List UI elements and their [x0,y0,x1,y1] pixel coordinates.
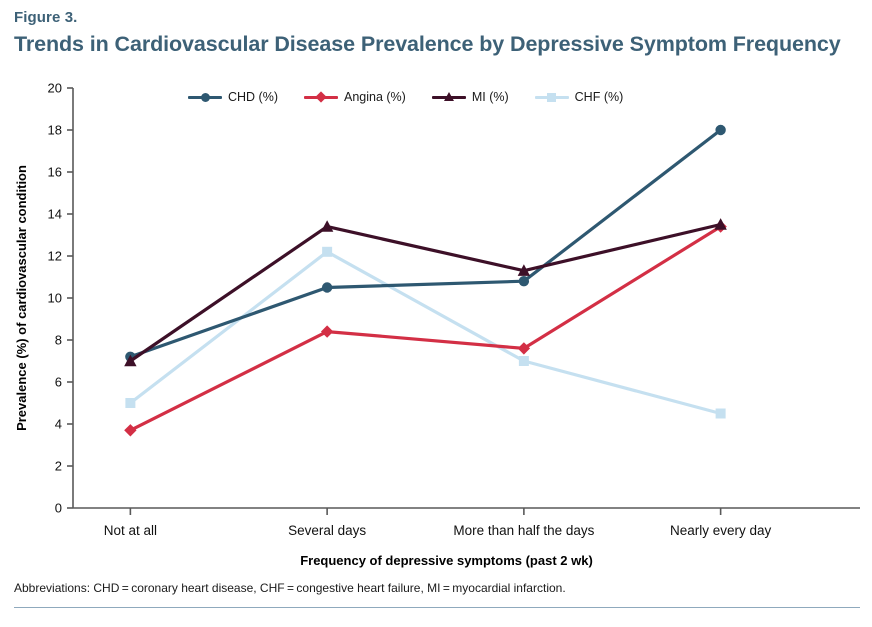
series-mi [124,218,727,366]
figure-title: Trends in Cardiovascular Disease Prevale… [14,30,860,58]
y-tick-label: 0 [55,501,62,516]
data-point [322,247,332,257]
data-point [125,398,135,408]
data-point [716,409,726,419]
figure-card: Figure 3. Trends in Cardiovascular Disea… [0,0,872,627]
data-point [519,276,529,286]
y-tick-label: 16 [48,165,62,180]
y-tick-label: 8 [55,333,62,348]
y-tick-label: 20 [48,81,62,96]
x-category-label: Not at all [104,523,157,538]
y-tick-label: 14 [48,207,62,222]
y-tick-label: 12 [48,249,62,264]
y-tick-label: 10 [48,291,62,306]
figure-number: Figure 3. [14,8,860,27]
y-tick-label: 6 [55,375,62,390]
y-axis-title: Prevalence (%) of cardiovascular conditi… [14,165,29,431]
footnote-divider [14,607,860,608]
x-category-label: Nearly every day [670,523,772,538]
y-tick-label: 2 [55,459,62,474]
x-category-label: Several days [288,523,366,538]
x-axis-title: Frequency of depressive symptoms (past 2… [300,553,593,568]
figure-header: Figure 3. Trends in Cardiovascular Disea… [14,8,860,58]
x-category-label: More than half the days [453,523,594,538]
data-point [715,125,725,135]
data-point [321,325,333,337]
figure-footnote: Abbreviations: CHD = coronary heart dise… [14,580,860,597]
series-line [130,227,720,431]
data-point [519,356,529,366]
data-point [124,424,136,436]
figure-footnote-block: Abbreviations: CHD = coronary heart dise… [14,580,860,608]
series-line [130,130,720,357]
data-point [322,282,332,292]
series-line [130,252,720,414]
series-chf [125,247,725,419]
y-tick-label: 4 [55,417,62,432]
chart-plot-area: 02468101214161820Not at allSeveral daysM… [0,80,872,570]
y-tick-label: 18 [48,123,62,138]
line-chart-svg: 02468101214161820Not at allSeveral daysM… [0,80,872,570]
